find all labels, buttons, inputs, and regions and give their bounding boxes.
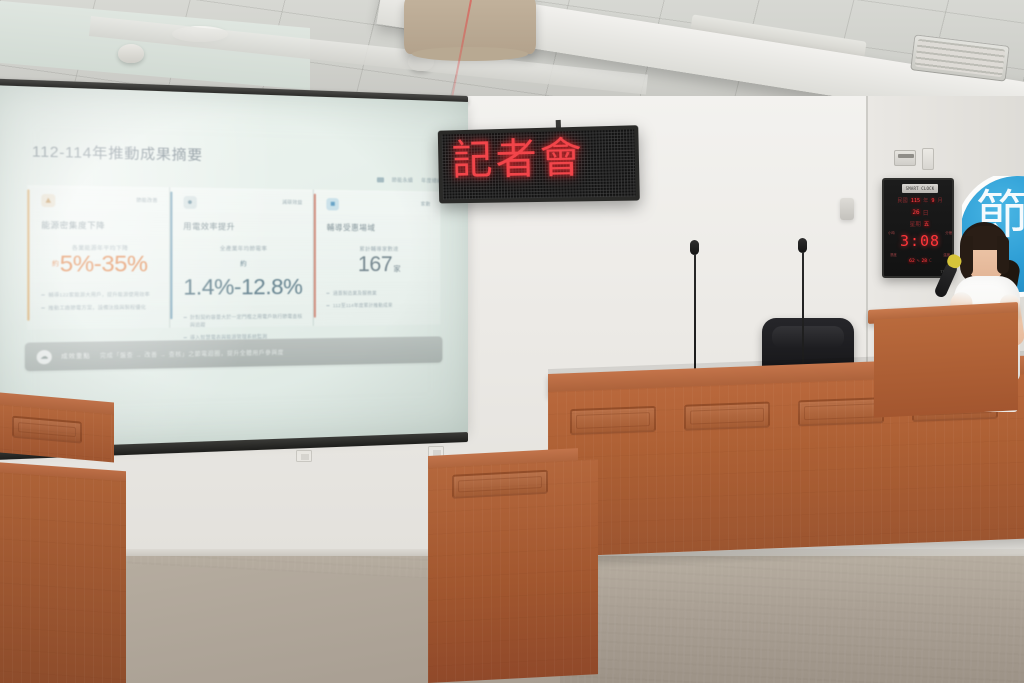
- card-value-group: 約1.4%-12.8%: [183, 253, 302, 300]
- slide-top-labels: 節能永續 年度總結: [376, 176, 442, 184]
- microphone-stand: [802, 252, 804, 382]
- card-accent-bar: [27, 189, 29, 320]
- slide-top-label-1: 節能永續: [392, 177, 413, 184]
- card-name: 能源密集度下降: [41, 219, 157, 232]
- projection-screen-assembly: 112-114年推動成果摘要 節能永續 年度總結 ▲ 節能改善 能源密集度下: [0, 79, 468, 454]
- cloud-icon: ☁: [37, 349, 52, 363]
- factory-icon: ▲: [41, 194, 55, 207]
- card-bullet: 涵蓋製造業及服務業: [327, 289, 431, 297]
- slide-card: ● 減碳效益 用電效率提升 全產業年均節電率 約1.4%-12.8% 針對契約容…: [169, 187, 313, 328]
- clock-month-unit: 月: [937, 197, 942, 204]
- clock-day-value: 26: [911, 209, 920, 216]
- card-value: 5%-35%: [60, 252, 148, 277]
- card-value-group: 167家: [327, 254, 431, 277]
- building-icon: ■: [327, 198, 339, 211]
- card-value-prefix: 約: [240, 262, 246, 268]
- card-bullet-list: 涵蓋製造業及服務業 112至114年度累計推動成果: [327, 289, 431, 309]
- presentation-slide: 112-114年推動成果摘要 節能永續 年度總結 ▲ 節能改善 能源密集度下: [4, 116, 459, 413]
- card-value-group: 約5%-35%: [41, 253, 157, 277]
- slide-title: 112-114年推動成果摘要: [32, 139, 203, 164]
- flag-icon: [376, 177, 383, 182]
- card-header: ● 減碳效益: [183, 196, 302, 210]
- clock-year-value: 115: [910, 198, 921, 204]
- microphone-head-icon: [690, 240, 699, 255]
- card-tag: 節能改善: [136, 195, 158, 204]
- card-bullet-list: 輔導122家能源大用戶，提升能源使用效率 推動工廠節電方案，設備汰換與製程優化: [41, 291, 157, 313]
- clock-brand-label: SMART CLOCK: [902, 184, 938, 193]
- foreground-desk: [0, 404, 114, 462]
- slide-summary-banner: ☁ 成效重點 完成「盤查 → 改善 → 查核」之節電迴圈，提升全體用戶參與度: [25, 336, 442, 371]
- clock-year-label: 民國: [897, 197, 907, 204]
- microphone-head-icon: [798, 238, 807, 253]
- microphone-stand: [694, 254, 696, 380]
- card-value: 167: [358, 253, 393, 277]
- clock-temp-unit: C: [929, 259, 932, 264]
- slide-card: ■ 家數 輔導受惠場域 累計輔導家數達 167家 涵蓋製造業及服務業 112至1…: [313, 190, 440, 326]
- card-accent-bar: [170, 191, 172, 319]
- clock-humidity-label: 濕度: [890, 252, 897, 257]
- clock-env-unit-labels: 濕度 溫度: [890, 252, 950, 257]
- desk-decor-panel: [452, 470, 548, 499]
- wall-outlet-icon: [296, 450, 312, 462]
- card-name: 輔導受惠場域: [327, 222, 431, 234]
- wood-grain-texture: [0, 472, 126, 683]
- conference-room-scene: 多 112-114年推動成果摘要 節能永續 年度總結 ▲: [0, 0, 1024, 683]
- card-accent-bar: [314, 194, 316, 318]
- clock-date-row: 民國 115 年 9 月: [884, 197, 954, 204]
- banner-text: 完成「盤查 → 改善 → 查核」之節電迴圈，提升全體用戶參與度: [100, 348, 284, 360]
- dais-decor-panel: [798, 397, 884, 426]
- led-sign-main: 記者會: [438, 125, 640, 203]
- clock-day-unit: 日: [923, 208, 929, 217]
- foreground-desk: [428, 459, 598, 683]
- clock-temp-value: 28: [921, 259, 929, 264]
- wall-corner: [866, 96, 868, 396]
- card-bullet: 輔導122家能源大用戶，提升能源使用效率: [41, 291, 157, 299]
- card-tag: 家數: [421, 199, 431, 207]
- clock-humidity-unit: %: [917, 259, 920, 264]
- clock-month-value: 9: [930, 198, 935, 204]
- slide-card-row: ▲ 節能改善 能源密集度下降 各業能源年平均下降 約5%-35% 輔導122家能…: [27, 185, 440, 330]
- dais-decor-panel: [570, 406, 656, 435]
- clock-day-row: 26 日: [884, 208, 954, 217]
- foreground-desk: [0, 472, 126, 683]
- card-value-suffix: 家: [393, 266, 400, 273]
- card-header: ▲ 節能改善: [41, 194, 157, 208]
- clock-humidity-value: 62: [908, 259, 916, 264]
- ceiling-speaker-icon: [118, 44, 144, 63]
- card-header: ■ 家數: [327, 198, 431, 212]
- card-value: 1.4%-12.8%: [183, 275, 302, 300]
- hair-side-left: [961, 236, 973, 276]
- card-value-prefix: 約: [52, 262, 59, 269]
- clock-weekday-label: 星期: [910, 220, 921, 228]
- led-banner-text: 記者會: [451, 137, 585, 182]
- slide-card: ▲ 節能改善 能源密集度下降 各業能源年平均下降 約5%-35% 輔導122家能…: [27, 185, 169, 330]
- hair-side-right: [997, 236, 1009, 274]
- wall-speaker-icon: [840, 198, 854, 220]
- card-name: 用電效率提升: [183, 220, 302, 232]
- card-bullet: 112至114年度累計推動成果: [327, 301, 431, 309]
- podium-body: [874, 312, 1018, 418]
- banner-label: 成效重點: [61, 351, 91, 360]
- dais-decor-panel: [684, 401, 770, 430]
- card-subtitle: 全產業年均節電率: [183, 245, 302, 253]
- card-tag: 減碳效益: [282, 197, 302, 206]
- wall-control-box[interactable]: [894, 150, 916, 166]
- card-bullet-list: 針對契約容量大於一定門檻之用電戶執行節電查核與追蹤 導入智慧電表與能源管理系統監…: [183, 313, 302, 342]
- clock-year-unit: 年: [923, 197, 928, 204]
- projection-screen: 112-114年推動成果摘要 節能永續 年度總結 ▲ 節能改善 能源密集度下: [0, 85, 468, 449]
- card-bullet: 推動工廠節電方案，設備汰換與製程優化: [41, 304, 157, 313]
- clock-weekday-value: 五: [923, 220, 931, 228]
- wall-switch-panel[interactable]: [922, 148, 934, 170]
- bulb-icon: ●: [183, 196, 196, 209]
- card-bullet: 針對契約容量大於一定門檻之用電戶執行節電查核與追蹤: [183, 313, 302, 329]
